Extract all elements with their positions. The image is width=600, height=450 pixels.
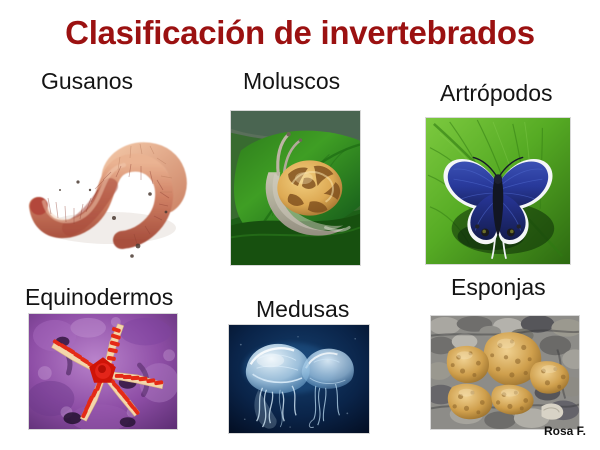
earthworm-photo: [18, 108, 194, 268]
page-title: Clasificación de invertebrados: [0, 16, 600, 51]
sponge-photo: [430, 315, 580, 430]
slide-canvas: Clasificación de invertebrados Gusanos: [0, 0, 600, 450]
label-medusas: Medusas: [256, 298, 349, 321]
snail-photo: [230, 110, 361, 266]
label-artropodos: Artrópodos: [440, 82, 553, 105]
label-equinodermos: Equinodermos: [25, 286, 173, 309]
butterfly-photo: [425, 117, 571, 265]
author-signature: Rosa F.: [544, 424, 586, 438]
label-gusanos: Gusanos: [41, 70, 133, 93]
label-moluscos: Moluscos: [243, 70, 340, 93]
starfish-photo: [28, 313, 178, 430]
label-esponjas: Esponjas: [451, 276, 546, 299]
jellyfish-photo: [228, 324, 370, 434]
